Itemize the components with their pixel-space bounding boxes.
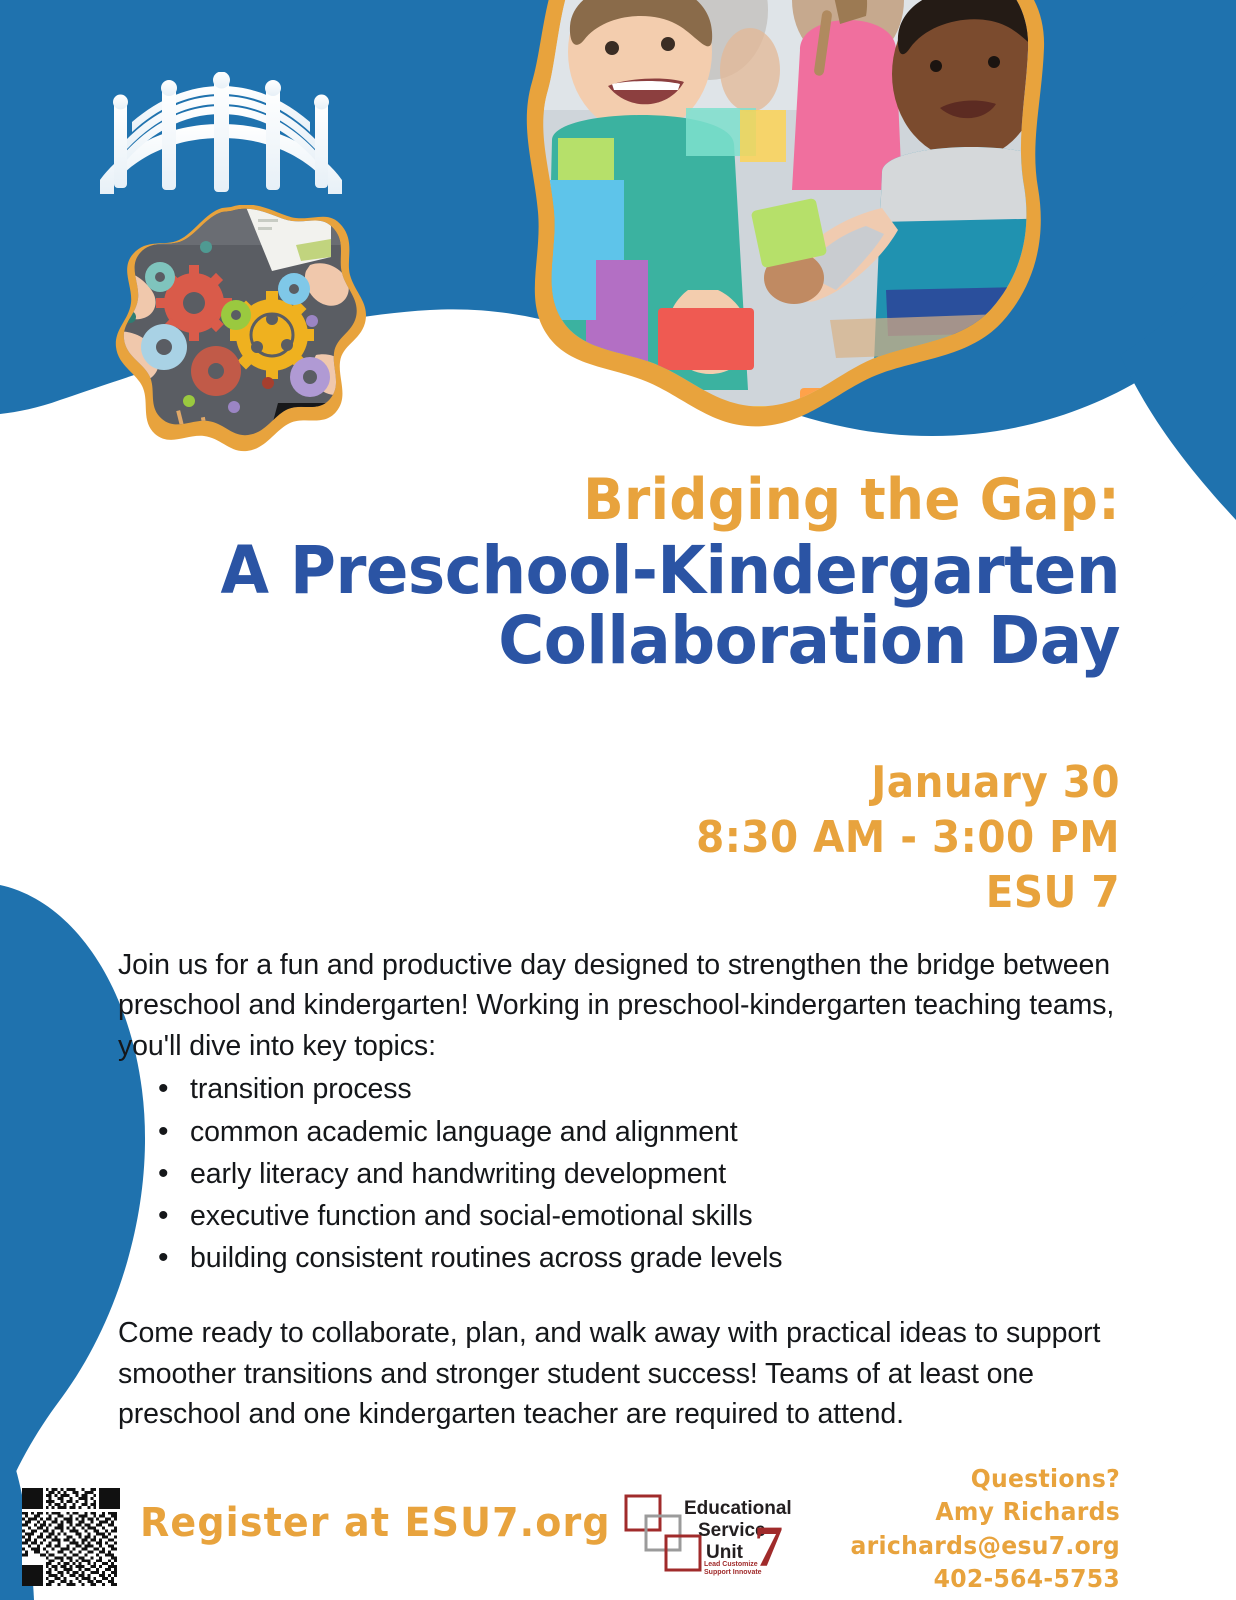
event-location: ESU 7	[228, 865, 1120, 920]
list-item: early literacy and handwriting developme…	[152, 1153, 1128, 1195]
gears-photo	[96, 205, 366, 455]
closing-paragraph: Come ready to collaborate, plan, and wal…	[118, 1313, 1128, 1434]
contact-block: Questions? Amy Richards arichards@esu7.o…	[790, 1462, 1120, 1595]
topics-list: transition process common academic langu…	[152, 1068, 1128, 1279]
esu-logo: Educational Service Unit 7 Lead Customiz…	[622, 1490, 792, 1576]
contact-phone[interactable]: 402-564-5753	[810, 1562, 1120, 1595]
headline-block: Bridging the Gap: A Preschool-Kindergart…	[150, 470, 1120, 676]
kids-photo	[500, 0, 1120, 450]
body-copy: Join us for a fun and productive day des…	[118, 945, 1128, 1435]
register-link[interactable]: Register at ESU7.org	[140, 1500, 611, 1546]
contact-heading: Questions?	[810, 1462, 1120, 1495]
event-time: 8:30 AM - 3:00 PM	[228, 810, 1120, 865]
intro-paragraph: Join us for a fun and productive day des…	[118, 945, 1128, 1066]
list-item: common academic language and alignment	[152, 1111, 1128, 1153]
contact-name: Amy Richards	[810, 1495, 1120, 1528]
title-kicker: Bridging the Gap:	[218, 470, 1120, 530]
title-main: A Preschool-Kindergarten Collaboration D…	[199, 536, 1121, 676]
logo-number: 7	[754, 1514, 783, 1576]
contact-email[interactable]: arichards@esu7.org	[810, 1529, 1120, 1562]
logo-line-3: Unit	[706, 1542, 744, 1563]
logo-tagline-1: Lead Customize	[704, 1561, 758, 1568]
bridge-icon	[96, 72, 346, 197]
event-details: January 30 8:30 AM - 3:00 PM ESU 7	[150, 755, 1120, 920]
title-line-1: A Preschool-Kindergarten	[221, 532, 1120, 609]
list-item: executive function and social-emotional …	[152, 1195, 1128, 1237]
title-line-2: Collaboration Day	[199, 606, 1121, 676]
list-item: transition process	[152, 1068, 1128, 1110]
qr-code[interactable]	[22, 1488, 120, 1586]
flyer-page: Bridging the Gap: A Preschool-Kindergart…	[0, 0, 1236, 1600]
list-item: building consistent routines across grad…	[152, 1237, 1128, 1279]
logo-tagline-2: Support Innovate	[704, 1569, 762, 1576]
event-date: January 30	[228, 755, 1120, 810]
